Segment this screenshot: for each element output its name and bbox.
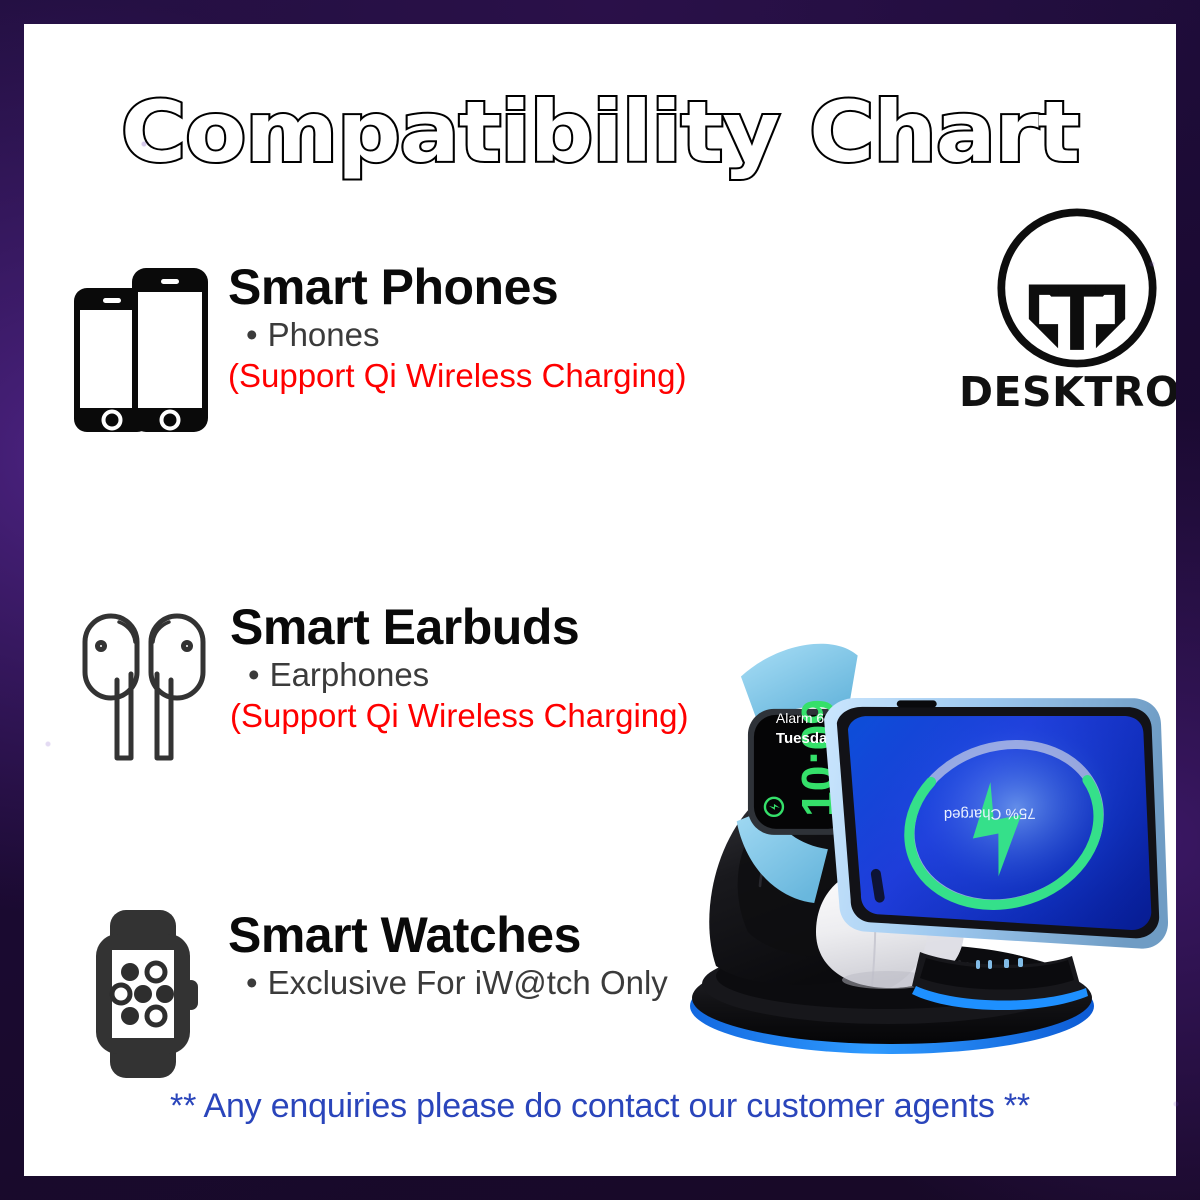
- desktron-circle-t-logo-icon: [991, 202, 1163, 374]
- smartwatch-icon: [84, 908, 208, 1080]
- feature-note: (Support Qi Wireless Charging): [228, 356, 687, 396]
- feature-sub-text: Exclusive For iW@tch Only: [268, 964, 668, 1001]
- earbuds-icon-wrap: [70, 600, 218, 770]
- feature-sub: •Exclusive For iW@tch Only: [228, 962, 668, 1004]
- smartphones-icon-wrap: [66, 260, 216, 440]
- feature-sub-text: Earphones: [270, 656, 430, 693]
- poster-background: Compatibility Chart DESKTRON: [0, 0, 1200, 1200]
- feature-row-earbuds: Smart Earbuds •Earphones (Support Qi Wir…: [70, 600, 689, 770]
- feature-text-phones: Smart Phones •Phones (Support Qi Wireles…: [216, 260, 687, 396]
- poster-card: Compatibility Chart DESKTRON: [24, 24, 1176, 1176]
- brand-logo: DESKTRON: [959, 202, 1176, 416]
- feature-title: Smart Phones: [228, 260, 687, 314]
- feature-sub-text: Phones: [268, 316, 380, 353]
- product-image: 10:09 Tuesday 14 Alarm 6:30AM: [620, 614, 1176, 1064]
- feature-text-watches: Smart Watches •Exclusive For iW@tch Only: [216, 908, 668, 1004]
- page-title-text: Compatibility Chart: [121, 80, 1079, 184]
- page-title: Compatibility Chart: [24, 80, 1176, 190]
- earbuds-icon: [79, 600, 209, 770]
- bullet-glyph: •: [248, 656, 260, 693]
- smartwatch-icon-wrap: [76, 908, 216, 1080]
- feature-text-earbuds: Smart Earbuds •Earphones (Support Qi Wir…: [218, 600, 689, 736]
- bullet-glyph: •: [246, 316, 258, 353]
- feature-sub: •Phones: [228, 314, 687, 356]
- bullet-glyph: •: [246, 964, 258, 1001]
- charging-stand-illustration: 10:09 Tuesday 14 Alarm 6:30AM: [620, 614, 1176, 1064]
- feature-row-phones: Smart Phones •Phones (Support Qi Wireles…: [66, 260, 687, 440]
- footer-note: ** Any enquiries please do contact our c…: [24, 1087, 1176, 1126]
- phone-status-text: 75% Charged: [944, 804, 1036, 823]
- feature-title: Smart Watches: [228, 908, 668, 962]
- smartphones-icon: [70, 260, 212, 440]
- brand-name: DESKTRON: [959, 368, 1176, 416]
- feature-row-watches: Smart Watches •Exclusive For iW@tch Only: [76, 908, 668, 1080]
